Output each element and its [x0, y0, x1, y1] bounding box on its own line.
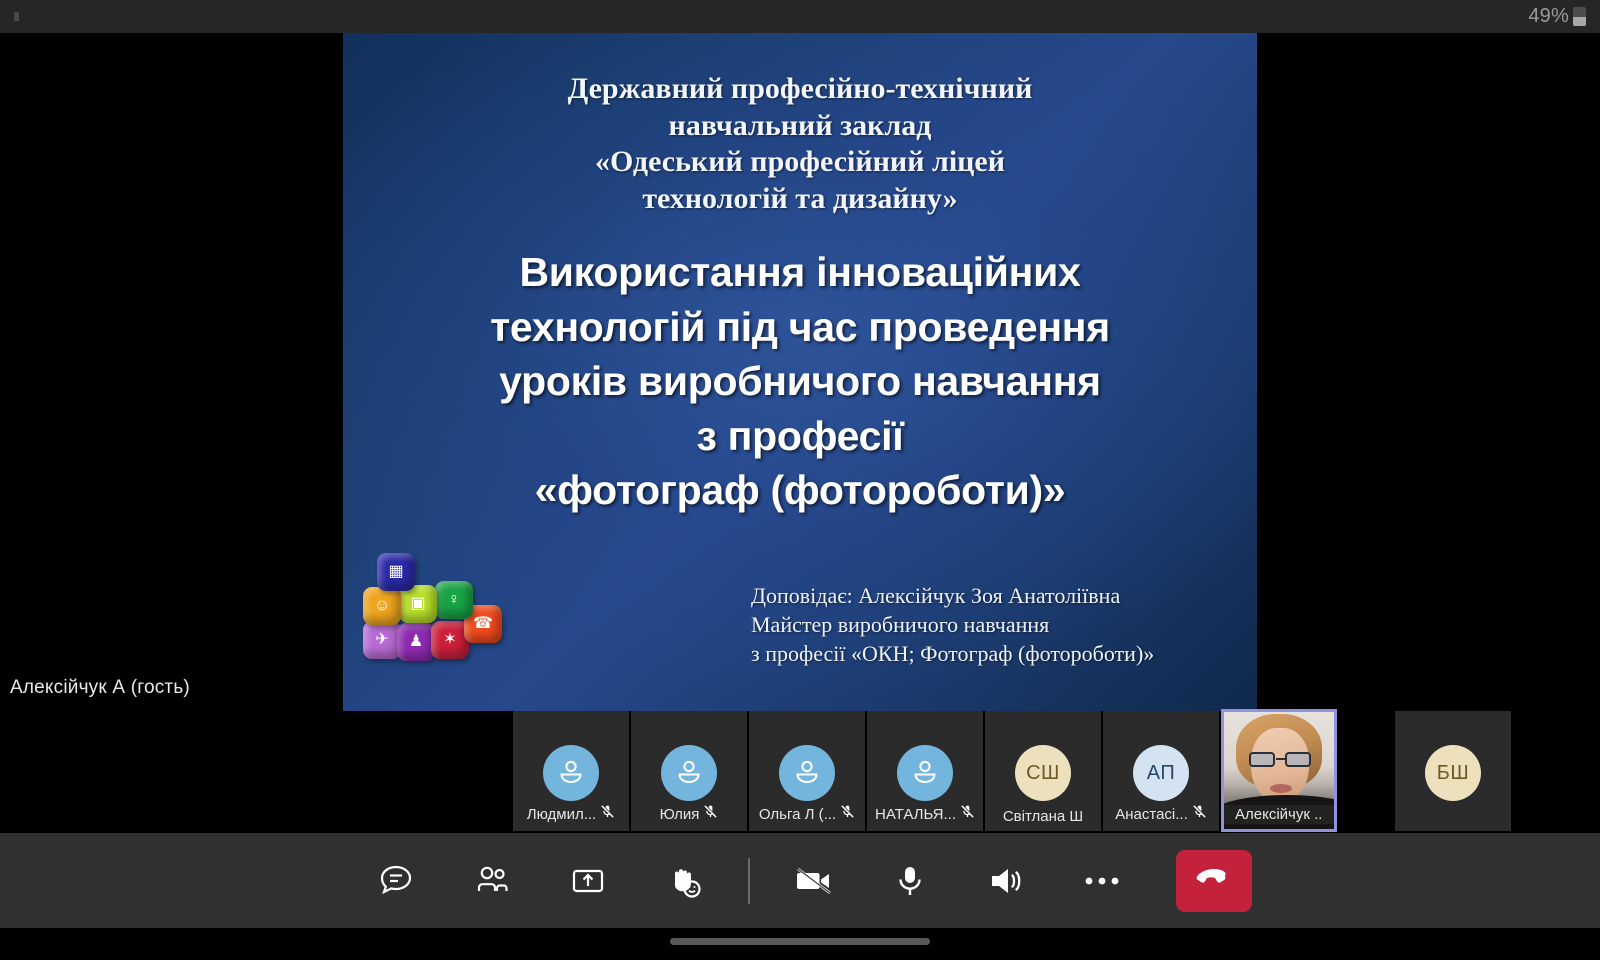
home-indicator[interactable] — [670, 938, 930, 945]
slide-credit-line: Доповідає: Алексійчук Зоя Анатоліївна — [751, 581, 1221, 610]
battery-icon — [1573, 7, 1586, 26]
participant-name: Світлана Ш — [1003, 809, 1083, 824]
avatar: БШ — [1425, 745, 1481, 801]
participant-name: Ольга Л (... — [759, 807, 836, 822]
mic-muted-icon — [840, 804, 855, 824]
mic-muted-icon — [960, 804, 975, 824]
status-indicator-dot — [14, 12, 19, 21]
speaker-icon — [984, 859, 1028, 903]
slide-credit-line: Майстер виробничого навчання — [751, 610, 1221, 639]
slide-decorative-cubes: ▦☺▣♀☎✈♟✶ — [363, 553, 503, 663]
end-call-button[interactable] — [1176, 850, 1252, 912]
slide-heading-line: Державний професійно-технічний — [343, 71, 1257, 108]
slide-cube-icon: ▦ — [377, 553, 415, 591]
participant-tile[interactable]: БШ — [1395, 711, 1511, 831]
avatar: СШ — [1015, 745, 1071, 801]
slide-presenter-credit: Доповідає: Алексійчук Зоя Анатоліївна Ма… — [751, 581, 1221, 668]
slide-cube-icon: ✈ — [363, 621, 401, 659]
bottom-bar — [0, 928, 1600, 960]
participant-tile[interactable]: Ольга Л (... — [749, 711, 865, 831]
avatar-initials: БШ — [1437, 762, 1469, 785]
person-icon — [672, 754, 706, 793]
status-bar: 49% — [0, 0, 1600, 33]
slide-title-line: Використання інноваційних — [343, 245, 1257, 300]
participant-filmstrip[interactable]: Людмил...ЮлияОльга Л (...НАТАЛЬЯ...СШСві… — [0, 711, 1600, 831]
avatar — [543, 745, 599, 801]
video-glasses — [1248, 752, 1312, 767]
slide-heading-line: «Одеський професійний ліцей — [343, 144, 1257, 181]
camera-off-icon — [791, 858, 837, 904]
participant-name: Юлия — [660, 807, 700, 822]
screen-share-frame: Державний професійно-технічний навчальни… — [192, 33, 1408, 711]
mic-muted-icon — [1192, 804, 1207, 824]
microphone-icon — [889, 860, 931, 902]
participant-tile[interactable]: Юлия — [631, 711, 747, 831]
chat-icon — [375, 860, 417, 902]
slide-title-line: технологій під час проведення — [343, 300, 1257, 355]
speaker-toggle-button[interactable] — [972, 850, 1040, 912]
camera-toggle-button[interactable] — [780, 850, 848, 912]
person-icon — [554, 754, 588, 793]
avatar: АП — [1133, 745, 1189, 801]
participant-name: Алексійчук ... — [1235, 807, 1323, 822]
end-call-icon — [1192, 864, 1236, 897]
microphone-toggle-button[interactable] — [876, 850, 944, 912]
slide-heading-line: технологій та дизайну» — [343, 181, 1257, 218]
participant-tile[interactable]: СШСвітлана Ш — [985, 711, 1101, 831]
raise-hand-icon — [662, 859, 706, 903]
participant-name: НАТАЛЬЯ... — [875, 807, 956, 822]
meeting-control-bar — [0, 833, 1600, 928]
participant-name: Людмил... — [527, 807, 596, 822]
person-icon — [790, 754, 824, 793]
participants-button[interactable] — [458, 850, 526, 912]
avatar-initials: СШ — [1026, 762, 1060, 785]
meeting-screen: 49% Державний професійно-технічний навча… — [0, 0, 1600, 960]
chat-button[interactable] — [362, 850, 430, 912]
avatar — [897, 745, 953, 801]
slide-institution-heading: Державний професійно-технічний навчальни… — [343, 71, 1257, 217]
control-bar-divider — [748, 858, 750, 904]
share-screen-button[interactable] — [554, 850, 622, 912]
video-lips — [1270, 784, 1292, 793]
participant-tile[interactable]: АПАнастасі... — [1103, 711, 1219, 831]
shared-content-stage[interactable]: Державний професійно-технічний навчальни… — [0, 33, 1600, 711]
slide-credit-line: з професії «ОКН; Фотограф (фотороботи)» — [751, 639, 1221, 668]
slide-title-line: з професії — [343, 409, 1257, 464]
mic-muted-icon — [600, 804, 615, 824]
more-options-button[interactable] — [1068, 850, 1136, 912]
avatar — [779, 745, 835, 801]
raise-hand-button[interactable] — [650, 850, 718, 912]
stage-participant-name-label: Алексійчук А (гость) — [10, 677, 190, 699]
share-screen-icon — [567, 860, 609, 902]
participant-tile-active-video[interactable]: Алексійчук ... — [1221, 709, 1337, 832]
slide-cube-icon: ☺ — [363, 587, 401, 625]
participant-tile[interactable]: Людмил... — [513, 711, 629, 831]
slide-cube-icon: ♀ — [435, 581, 473, 619]
avatar — [661, 745, 717, 801]
avatar-initials: АП — [1147, 762, 1176, 785]
status-bar-right: 49% — [1528, 5, 1586, 28]
participant-name: Анастасі... — [1115, 807, 1188, 822]
participant-tile[interactable]: НАТАЛЬЯ... — [867, 711, 983, 831]
slide-heading-line: навчальний заклад — [343, 108, 1257, 145]
presentation-slide: Державний професійно-технічний навчальни… — [343, 33, 1257, 711]
slide-title-line: уроків виробничого навчання — [343, 354, 1257, 409]
slide-main-title: Використання інноваційних технологій під… — [343, 245, 1257, 518]
slide-cube-icon: ♟ — [397, 623, 435, 661]
battery-percent-label: 49% — [1528, 5, 1569, 28]
more-options-icon — [1081, 871, 1123, 891]
slide-title-line: «фотограф (фотороботи)» — [343, 463, 1257, 518]
person-icon — [908, 754, 942, 793]
participants-icon — [471, 860, 513, 902]
mic-muted-icon — [703, 804, 718, 824]
